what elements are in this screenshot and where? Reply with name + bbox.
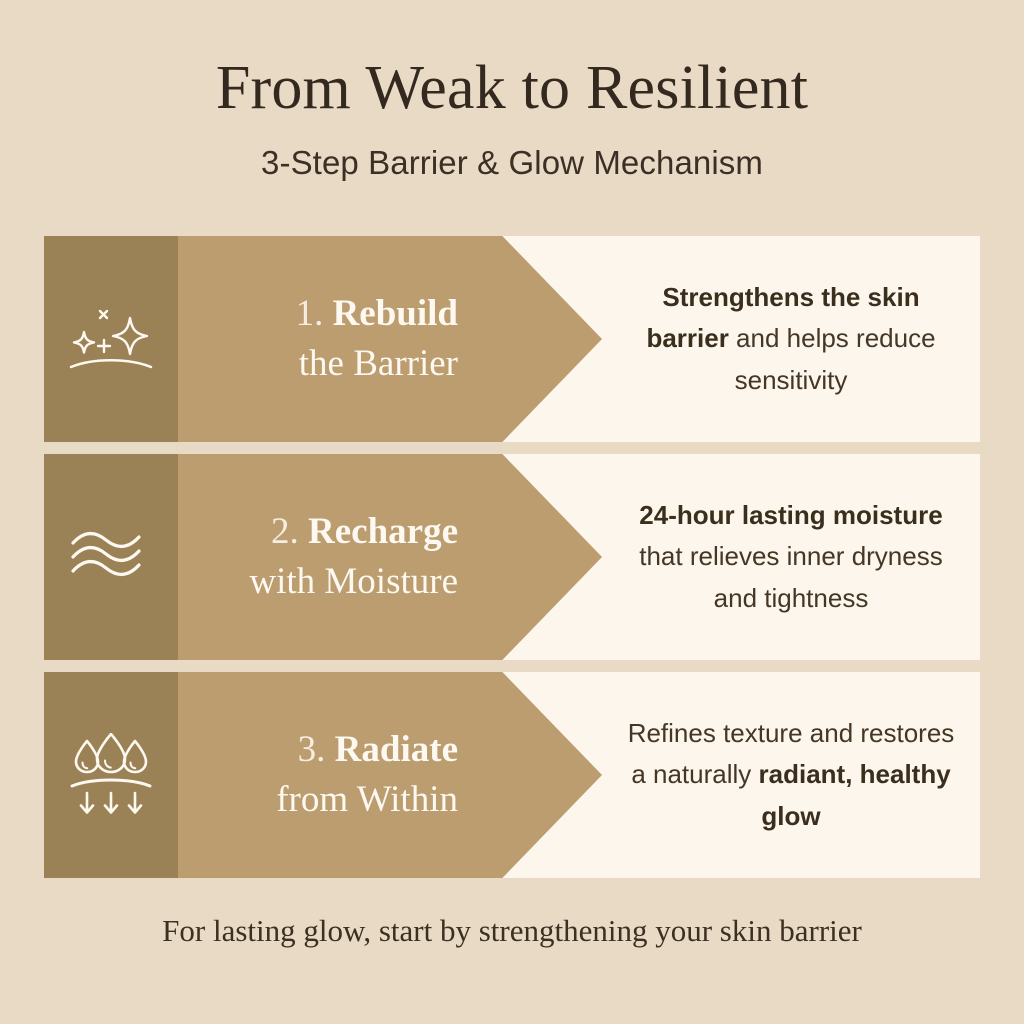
- droplets-absorb-icon: [68, 733, 154, 817]
- page-title: From Weak to Resilient: [0, 54, 1024, 123]
- step-row: 1. Rebuild the Barrier Strengthens the s…: [44, 236, 980, 442]
- header: From Weak to Resilient 3-Step Barrier & …: [0, 54, 1024, 183]
- step-title: 3. Radiate from Within: [178, 725, 462, 824]
- step-row: 2. Recharge with Moisture 24-hour lastin…: [44, 454, 980, 660]
- steps-list: 1. Rebuild the Barrier Strengthens the s…: [44, 236, 980, 878]
- step-icon-panel: [44, 454, 178, 660]
- step-description-panel: Refines texture and restores a naturally…: [602, 672, 980, 878]
- step-keyword: Recharge: [308, 511, 458, 552]
- step-description-rest: and helps reduce sensitivity: [729, 323, 936, 394]
- step-title: 1. Rebuild the Barrier: [178, 289, 462, 388]
- step-row: 3. Radiate from Within Refines texture a…: [44, 672, 980, 878]
- step-arrow-band: 3. Radiate from Within: [178, 672, 602, 878]
- step-icon-panel: [44, 672, 178, 878]
- step-number: 3.: [298, 729, 335, 770]
- footer-tagline: For lasting glow, start by strengthening…: [0, 912, 1024, 951]
- water-waves-icon: [67, 529, 155, 585]
- step-number: 1.: [296, 293, 333, 334]
- step-keyword: Rebuild: [333, 293, 458, 334]
- step-subtitle: from Within: [178, 775, 458, 825]
- step-icon-panel: [44, 236, 178, 442]
- step-description: 24-hour lasting moisture that relieves i…: [618, 495, 964, 618]
- step-subtitle: with Moisture: [178, 557, 458, 607]
- step-number: 2.: [271, 511, 308, 552]
- page-subtitle: 3-Step Barrier & Glow Mechanism: [0, 143, 1024, 183]
- step-subtitle: the Barrier: [178, 339, 458, 389]
- step-arrow-band: 2. Recharge with Moisture: [178, 454, 602, 660]
- step-description: Strengthens the skin barrier and helps r…: [618, 277, 964, 400]
- step-description-rest: that relieves inner dryness and tightnes…: [639, 541, 942, 612]
- sparkle-skin-icon: [67, 305, 155, 373]
- step-title: 2. Recharge with Moisture: [178, 507, 462, 606]
- infographic-poster: From Weak to Resilient 3-Step Barrier & …: [0, 0, 1024, 1024]
- step-description-panel: 24-hour lasting moisture that relieves i…: [602, 454, 980, 660]
- step-keyword: Radiate: [335, 729, 458, 770]
- step-description: Refines texture and restores a naturally…: [618, 713, 964, 836]
- step-description-highlight: 24-hour lasting moisture: [639, 500, 942, 530]
- step-description-panel: Strengthens the skin barrier and helps r…: [602, 236, 980, 442]
- step-description-highlight: radiant, healthy glow: [759, 759, 951, 830]
- step-arrow-band: 1. Rebuild the Barrier: [178, 236, 602, 442]
